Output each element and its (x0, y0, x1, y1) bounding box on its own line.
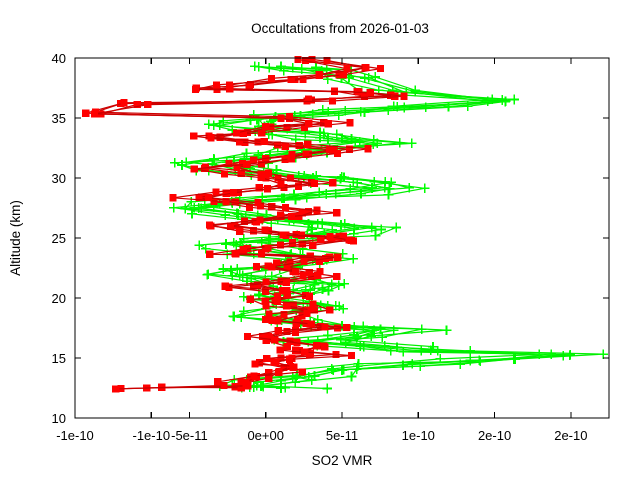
data-point-square (284, 343, 291, 350)
x-tick-label: -1e-10 (56, 428, 94, 443)
data-point-square (250, 373, 257, 380)
data-point-square (309, 242, 316, 249)
data-point-square (240, 246, 247, 253)
data-point-square (232, 250, 239, 257)
data-point-square (220, 382, 227, 389)
data-point-square (299, 368, 306, 375)
data-point-square (365, 145, 372, 152)
data-point-square (169, 194, 176, 201)
data-point-square (91, 110, 98, 117)
data-point-square (308, 320, 315, 327)
data-point-square (190, 133, 197, 140)
data-point-square (295, 183, 302, 190)
data-point-square (280, 231, 287, 238)
data-point-square (255, 138, 262, 145)
data-point-square (82, 110, 89, 117)
data-point-square (377, 65, 384, 72)
data-point-square (362, 64, 369, 71)
data-point-square (329, 97, 336, 104)
data-point-square (250, 156, 257, 163)
data-point-square (303, 310, 310, 317)
data-point-square (247, 296, 254, 303)
data-point-square (265, 310, 272, 317)
data-point-square (212, 188, 219, 195)
data-point-square (292, 347, 299, 354)
data-point-square (272, 359, 279, 366)
data-point-square (264, 185, 271, 192)
data-point-square (284, 291, 291, 298)
data-point-square (278, 180, 285, 187)
data-point-square (401, 93, 408, 100)
data-point-square (346, 119, 353, 126)
data-point-square (112, 385, 119, 392)
y-tick-label: 30 (52, 171, 66, 186)
y-tick-label: 20 (52, 291, 66, 306)
data-point-square (301, 348, 308, 355)
data-point-square (205, 194, 212, 201)
data-point-square (300, 258, 307, 265)
data-point-square (314, 272, 321, 279)
x-tick-label: -1e-10 (132, 428, 170, 443)
data-point-square (313, 342, 320, 349)
data-point-square (261, 226, 268, 233)
y-tick-label: 40 (52, 51, 66, 66)
data-point-square (253, 263, 260, 270)
data-point-square (226, 85, 233, 92)
x-tick-label: 1e-10 (402, 428, 435, 443)
data-point-square (213, 81, 220, 88)
data-point-square (300, 76, 307, 83)
data-point-square (345, 236, 352, 243)
data-point-square (243, 161, 250, 168)
data-point-square (230, 189, 237, 196)
data-point-square (348, 352, 355, 359)
page-title: Occultations from 2026-01-03 (251, 21, 429, 36)
data-point-square (305, 120, 312, 127)
data-point-square (334, 254, 341, 261)
y-tick-label: 10 (52, 411, 66, 426)
data-point-square (271, 336, 278, 343)
data-point-square (311, 180, 318, 187)
data-point-square (306, 293, 313, 300)
data-point-square (278, 115, 285, 122)
data-point-square (292, 269, 299, 276)
data-point-square (206, 251, 213, 258)
data-point-square (288, 213, 295, 220)
y-tick-label: 25 (52, 231, 66, 246)
data-point-square (333, 209, 340, 216)
data-point-square (257, 217, 264, 224)
data-point-square (329, 179, 336, 186)
data-point-square (236, 228, 243, 235)
data-point-square (343, 324, 350, 331)
data-point-square (327, 233, 334, 240)
data-point-square (258, 129, 265, 136)
occultation-plot: -1e-10-1e-10-5e-110e+005e-111e-102e-102e… (0, 0, 640, 480)
data-point-square (233, 129, 240, 136)
data-point-square (299, 272, 306, 279)
data-point-square (268, 75, 275, 82)
data-point-square (263, 355, 270, 362)
data-point-square (282, 204, 289, 211)
data-point-square (262, 278, 269, 285)
data-point-square (294, 56, 301, 63)
data-point-square (310, 300, 317, 307)
data-point-square (262, 123, 269, 130)
x-tick-label: 2e-10 (478, 428, 511, 443)
data-point-square (343, 65, 350, 72)
x-tick-label: -5e-11 (171, 428, 208, 443)
data-point-square (283, 302, 290, 309)
data-point-square (258, 174, 265, 181)
data-point-square (282, 143, 289, 150)
data-point-square (261, 138, 268, 145)
data-point-square (274, 317, 281, 324)
data-point-square (191, 165, 198, 172)
data-point-square (262, 298, 269, 305)
data-point-square (275, 369, 282, 376)
data-point-square (277, 346, 284, 353)
chart-canvas: -1e-10-1e-10-5e-110e+005e-111e-102e-102e… (0, 0, 640, 480)
data-point-square (254, 199, 261, 206)
data-point-square (288, 155, 295, 162)
data-point-square (251, 360, 258, 367)
x-tick-label: 5e-11 (326, 428, 358, 443)
data-point-square (264, 244, 271, 251)
data-point-square (289, 364, 296, 371)
data-point-square (192, 86, 199, 93)
data-point-square (316, 71, 323, 78)
data-point-square (222, 283, 229, 290)
data-point-square (206, 221, 213, 228)
x-axis-label: SO2 VMR (312, 453, 373, 468)
data-point-square (334, 150, 341, 157)
x-tick-label: 2e-10 (554, 428, 587, 443)
data-point-square (258, 250, 265, 257)
data-point-square (326, 306, 333, 313)
data-point-square (322, 323, 329, 330)
data-point-square (258, 161, 265, 168)
data-point-square (244, 382, 251, 389)
x-tick-label: 0e+00 (247, 428, 284, 443)
data-point-square (121, 99, 128, 106)
data-point-square (286, 356, 293, 363)
data-point-square (275, 327, 282, 334)
data-point-square (326, 146, 333, 153)
data-point-square (274, 298, 281, 305)
data-point-square (321, 343, 328, 350)
data-point-square (144, 101, 151, 108)
data-point-square (207, 134, 214, 141)
y-tick-label: 15 (52, 351, 66, 366)
data-point-square (268, 263, 275, 270)
data-point-square (221, 171, 228, 178)
data-point-square (333, 273, 340, 280)
data-point-square (325, 120, 332, 127)
y-axis-label: Altitude (km) (8, 200, 23, 276)
data-point-square (367, 89, 374, 96)
y-tick-label: 35 (52, 111, 66, 126)
data-point-square (304, 141, 311, 148)
data-point-square (244, 333, 251, 340)
